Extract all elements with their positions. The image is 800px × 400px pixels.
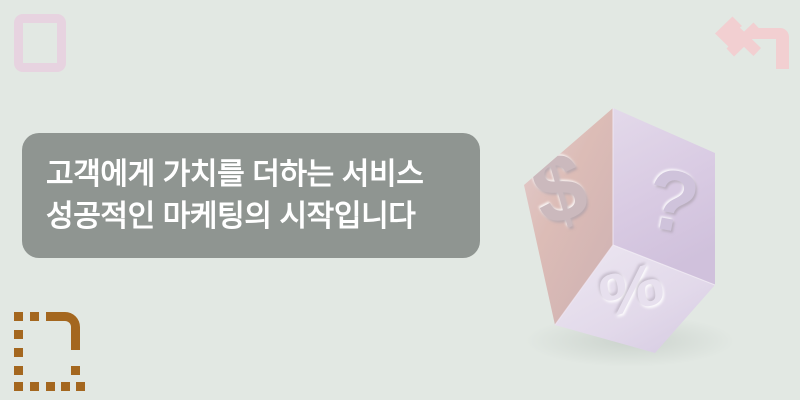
3d-cube-icon: $ ? % <box>500 85 800 355</box>
dashed-corner-square-icon <box>10 308 88 394</box>
reply-arrow-icon <box>706 12 790 74</box>
rounded-square-outline-icon <box>14 14 66 72</box>
headline-plate: 고객에게 가치를 더하는 서비스 성공적인 마케팅의 시작입니다 <box>22 133 480 258</box>
headline-line-2: 성공적인 마케팅의 시작입니다 <box>46 196 415 238</box>
promo-banner: $ ? % <box>0 0 800 400</box>
headline-line-1: 고객에게 가치를 더하는 서비스 <box>46 154 423 196</box>
